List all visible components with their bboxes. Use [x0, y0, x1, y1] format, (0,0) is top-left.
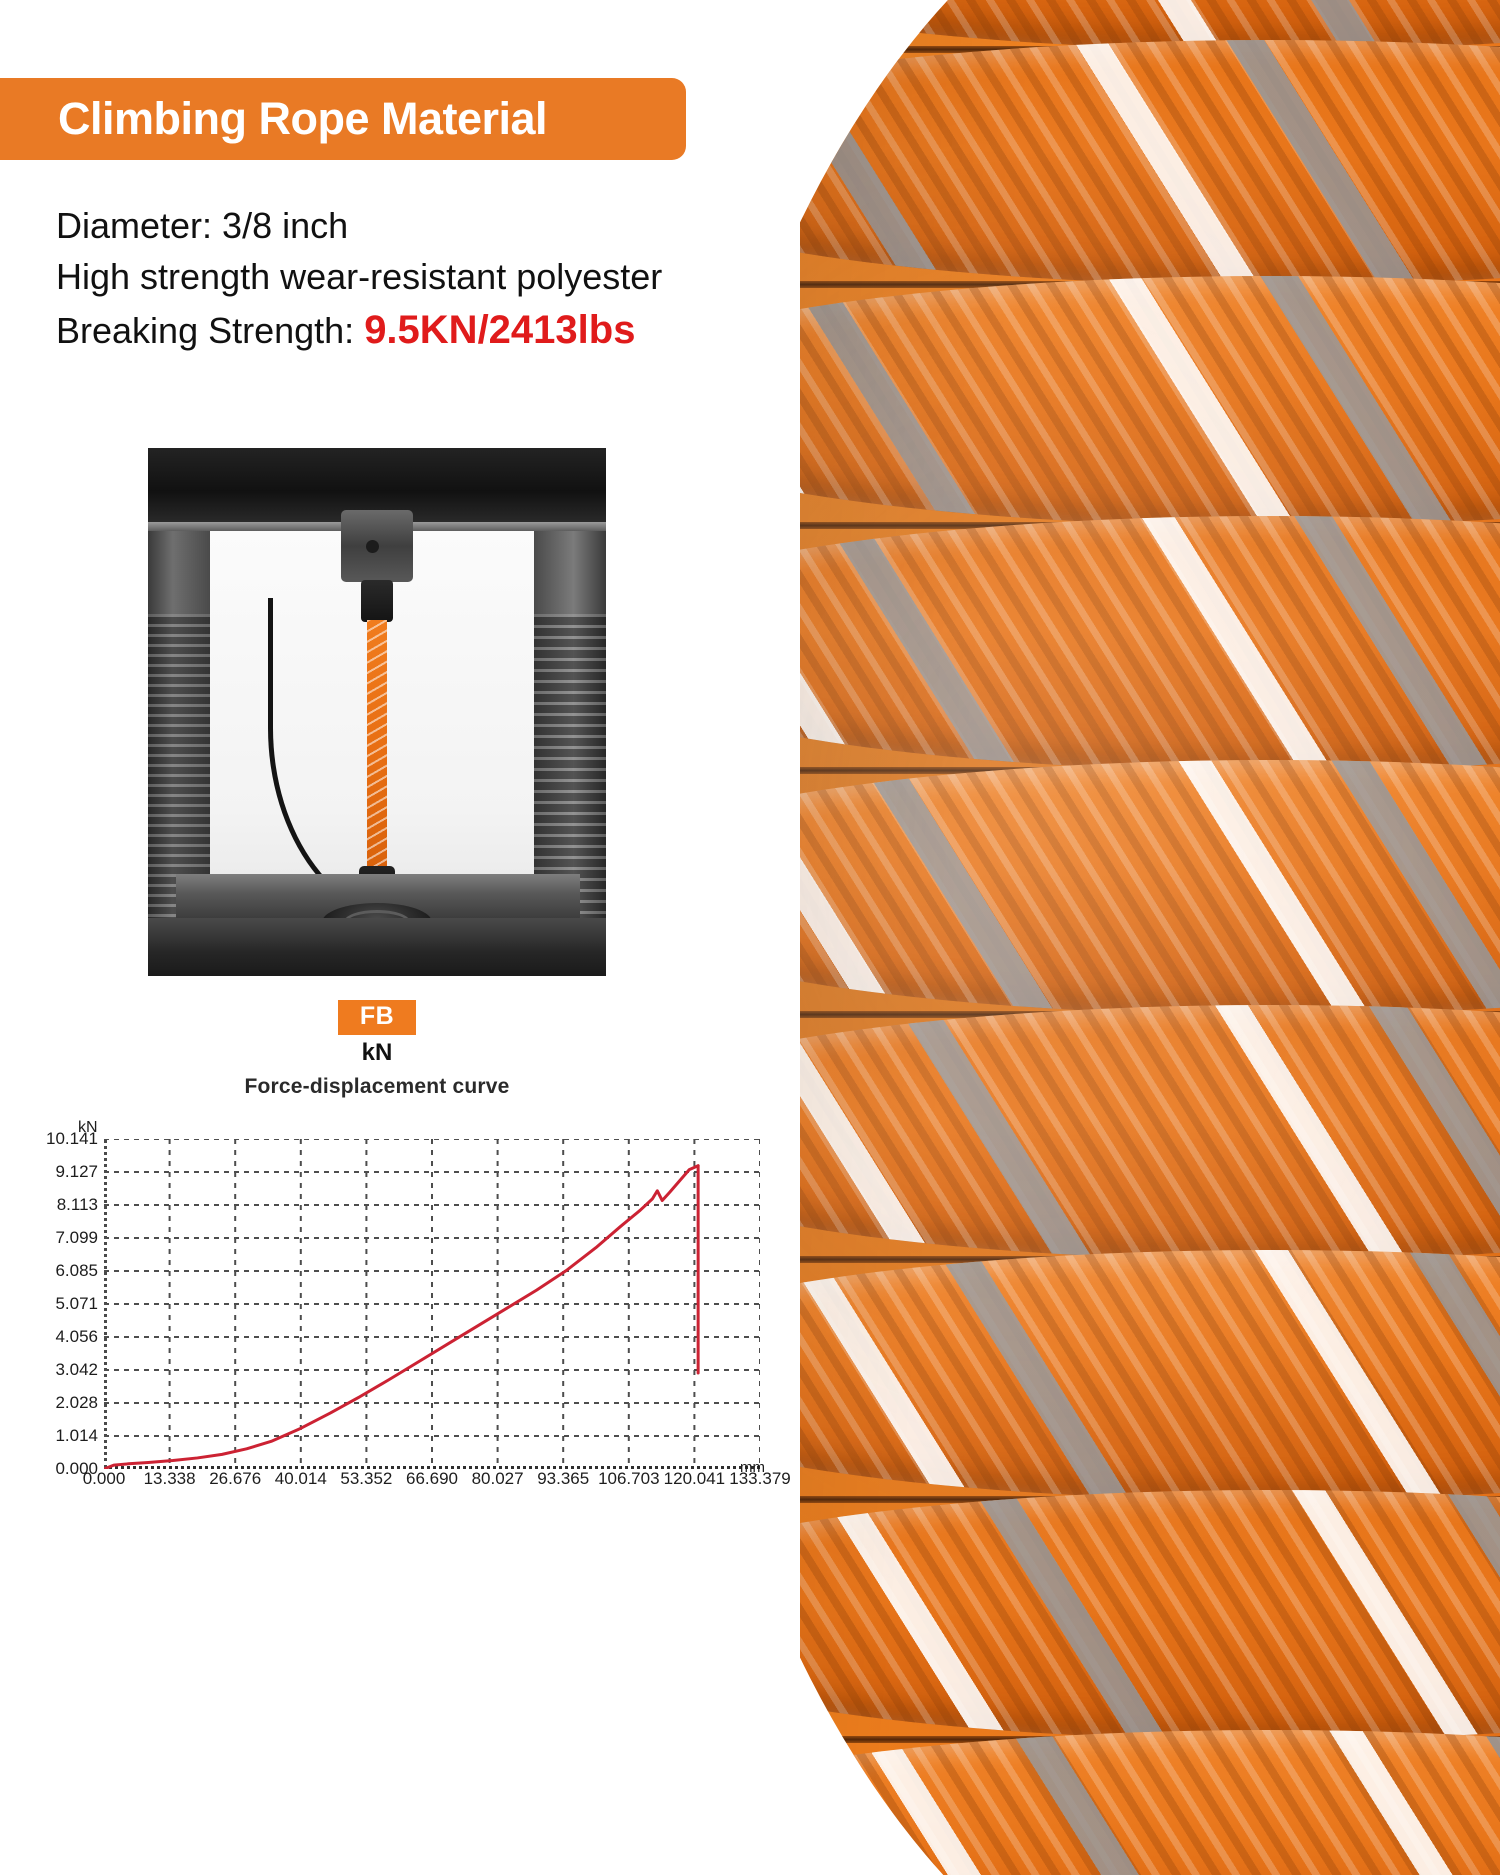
y-tick-label: 2.028 [12, 1393, 104, 1413]
rope-product-photo [740, 0, 1500, 1875]
spec-diameter: Diameter: 3/8 inch [56, 200, 776, 251]
page-title: Climbing Rope Material [0, 93, 547, 145]
rope-strand [740, 1490, 1500, 1740]
machine-left-wall [148, 531, 210, 931]
rope-coil-image [740, 0, 1500, 1875]
rope-strand [740, 760, 1500, 1015]
y-tick-label: 1.014 [12, 1426, 104, 1446]
rope-reflective-flecks [740, 760, 1500, 1015]
force-displacement-chart: Force-displacement curve kN 0.0001.0142.… [0, 1075, 800, 1521]
chart-title: Force-displacement curve [0, 1075, 754, 1099]
y-tick-label: 3.042 [12, 1360, 104, 1380]
spec-breaking-value: 9.5KN/2413lbs [364, 308, 635, 352]
machine-grip-neck [361, 580, 393, 622]
x-tick-label: 26.676 [209, 1469, 261, 1489]
rope-strand [740, 1005, 1500, 1260]
y-tick-label: 7.099 [12, 1228, 104, 1248]
rope-strand [740, 276, 1500, 526]
fb-badge-group: FB kN [0, 1000, 754, 1067]
x-tick-label: 120.041 [664, 1469, 725, 1489]
y-tick-label: 9.127 [12, 1162, 104, 1182]
rope-specimen-texture [367, 620, 387, 870]
x-tick-label: 106.703 [598, 1469, 659, 1489]
y-tick-label: 6.085 [12, 1261, 104, 1281]
x-tick-label: 53.352 [340, 1469, 392, 1489]
x-tick-label: 0.000 [83, 1469, 126, 1489]
rope-reflective-flecks [740, 516, 1500, 771]
info-panel: Climbing Rope Material Diameter: 3/8 inc… [0, 0, 800, 1875]
machine-right-wall [534, 531, 606, 931]
y-tick-label: 8.113 [12, 1195, 104, 1215]
plot-curve-svg [104, 1139, 760, 1469]
y-tick-label: 10.141 [12, 1129, 104, 1149]
fb-unit-label: kN [362, 1039, 393, 1067]
spec-breaking-label: Breaking Strength: [56, 310, 364, 351]
x-tick-label: 66.690 [406, 1469, 458, 1489]
x-axis-unit-label: mm [740, 1459, 765, 1476]
header-banner: Climbing Rope Material [0, 78, 686, 160]
x-tick-label: 13.338 [144, 1469, 196, 1489]
y-axis-tick-labels: 0.0001.0142.0283.0424.0565.0716.0857.099… [0, 1121, 104, 1451]
rope-reflective-flecks [740, 1490, 1500, 1740]
x-tick-label: 40.014 [275, 1469, 327, 1489]
curve-path [104, 1166, 698, 1469]
y-tick-label: 4.056 [12, 1327, 104, 1347]
rope-reflective-flecks [740, 1005, 1500, 1260]
rope-strand [740, 516, 1500, 771]
rope-reflective-flecks [740, 276, 1500, 526]
x-tick-label: 80.027 [472, 1469, 524, 1489]
tensile-test-machine-photo [148, 448, 606, 976]
rope-reflective-flecks [740, 1250, 1500, 1500]
spec-list: Diameter: 3/8 inch High strength wear-re… [56, 200, 776, 359]
spec-breaking-strength: Breaking Strength: 9.5KN/2413lbs [56, 302, 776, 359]
spec-material: High strength wear-resistant polyester [56, 251, 776, 302]
fb-badge: FB [338, 1000, 416, 1035]
machine-base-lower [148, 918, 606, 976]
y-tick-label: 5.071 [12, 1294, 104, 1314]
rope-strand [740, 40, 1500, 285]
rope-reflective-flecks [740, 40, 1500, 285]
rope-reflective-flecks [740, 1730, 1500, 1875]
rope-strand [740, 1250, 1500, 1500]
machine-grip-bolt-icon [366, 540, 379, 553]
rope-strand [740, 1730, 1500, 1875]
x-tick-label: 93.365 [537, 1469, 589, 1489]
x-axis-tick-labels: 0.00013.33826.67640.01453.35266.69080.02… [0, 1469, 800, 1499]
chart-plot-area: kN 0.0001.0142.0283.0424.0565.0716.0857.… [0, 1121, 800, 1521]
